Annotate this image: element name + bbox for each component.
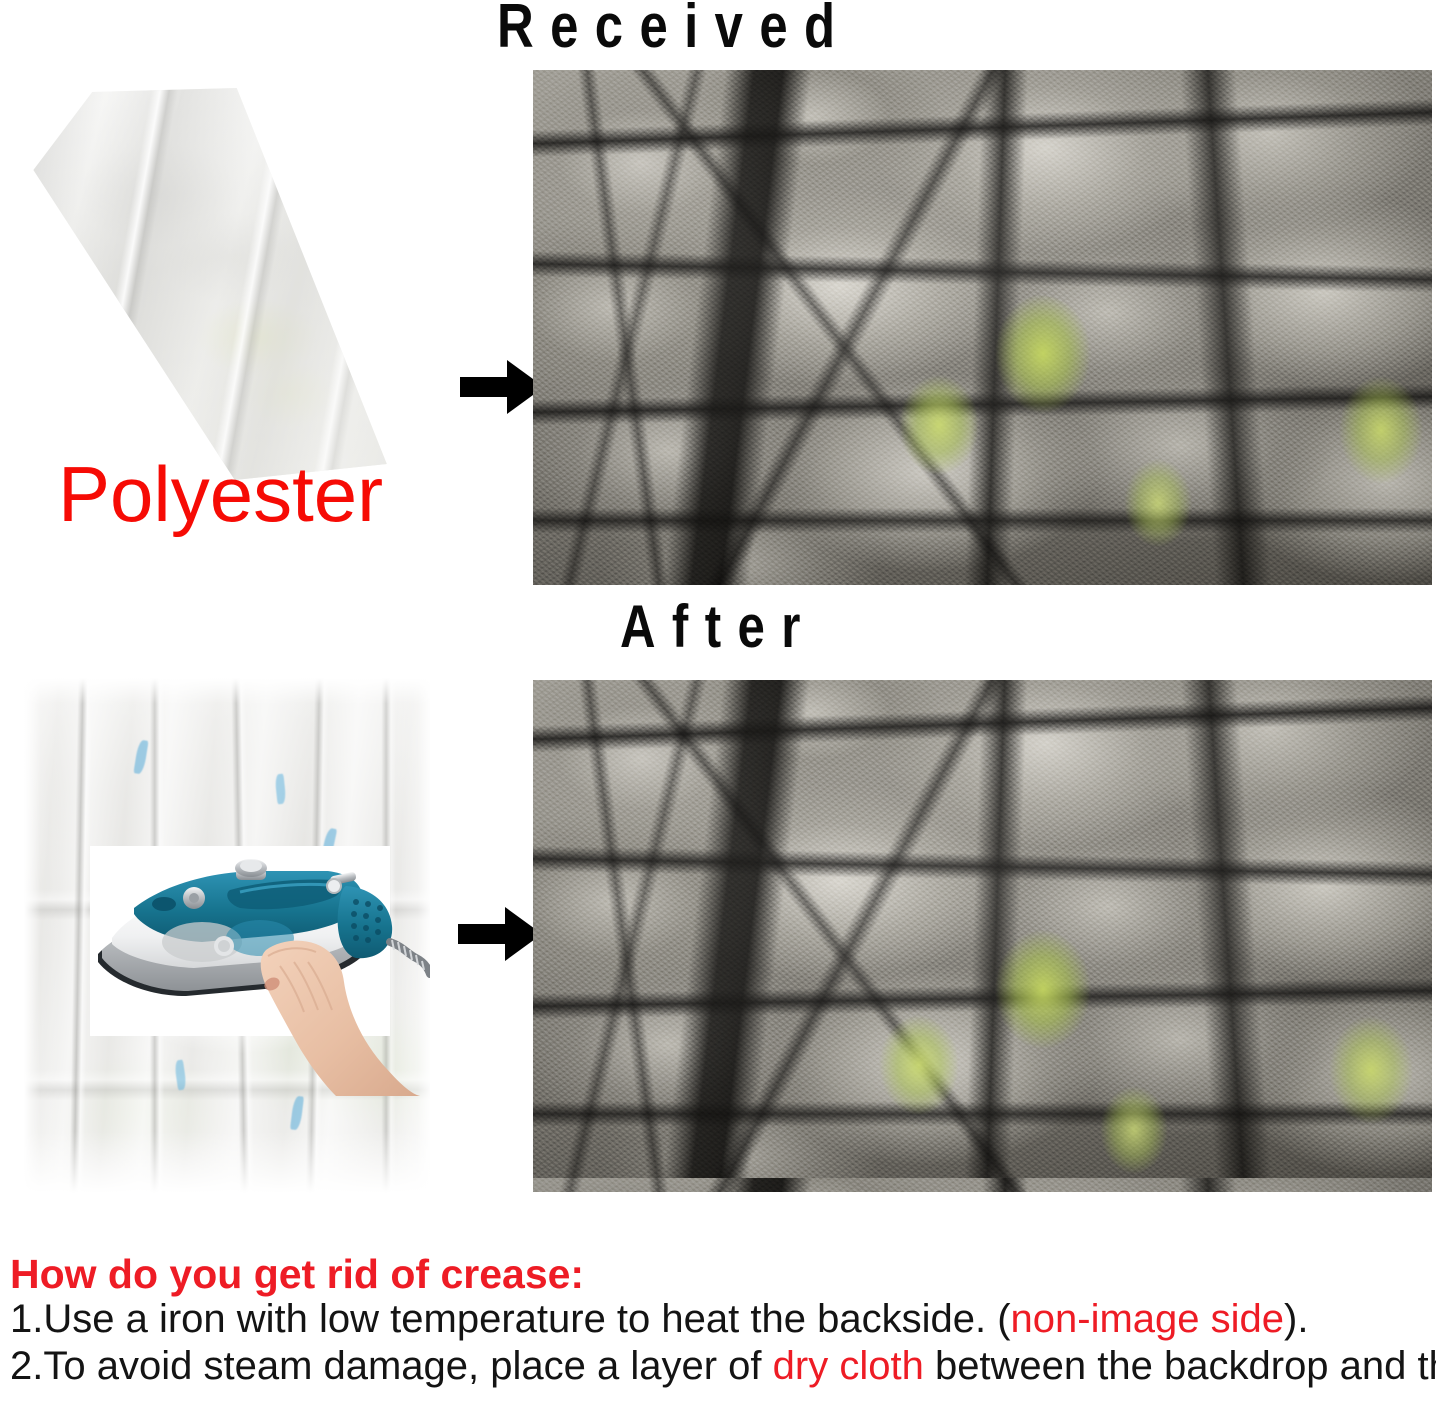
after-backdrop-photo [533,680,1432,1192]
instruction-1-highlight: non-image side [1011,1297,1285,1341]
section-title-after: After [620,597,817,657]
hand-ironing-illustration [90,846,430,1096]
right-arrow-icon [458,905,542,963]
rock-shading [533,70,1432,585]
section-title-received: Received [497,0,851,58]
instructions-block: How do you get rid of crease: 1.Use a ir… [10,1252,1436,1389]
fabric-fold-creases [22,82,402,482]
instruction-1-text-a: Use a iron with low temperature to heat … [43,1297,1010,1341]
material-label-polyester: Polyester [58,455,383,533]
folded-fabric-image [22,82,402,482]
instruction-1-number: 1. [10,1297,43,1341]
instructions-heading: How do you get rid of crease: [10,1252,1436,1296]
instruction-2-text-a: To avoid steam damage, place a layer of [43,1344,772,1388]
instruction-line-2: 2.To avoid steam damage, place a layer o… [10,1343,1436,1389]
right-arrow-icon [460,358,544,416]
instruction-2-text-b: between the backdrop and the iron. [924,1344,1436,1388]
infographic-canvas: Received Polyester After [0,0,1436,1401]
received-backdrop-photo [533,70,1432,585]
instruction-line-1: 1.Use a iron with low temperature to hea… [10,1296,1436,1342]
instruction-2-highlight: dry cloth [773,1344,924,1388]
rock-shading [533,680,1432,1192]
instruction-2-number: 2. [10,1344,43,1388]
instruction-1-text-b: ). [1284,1297,1308,1341]
